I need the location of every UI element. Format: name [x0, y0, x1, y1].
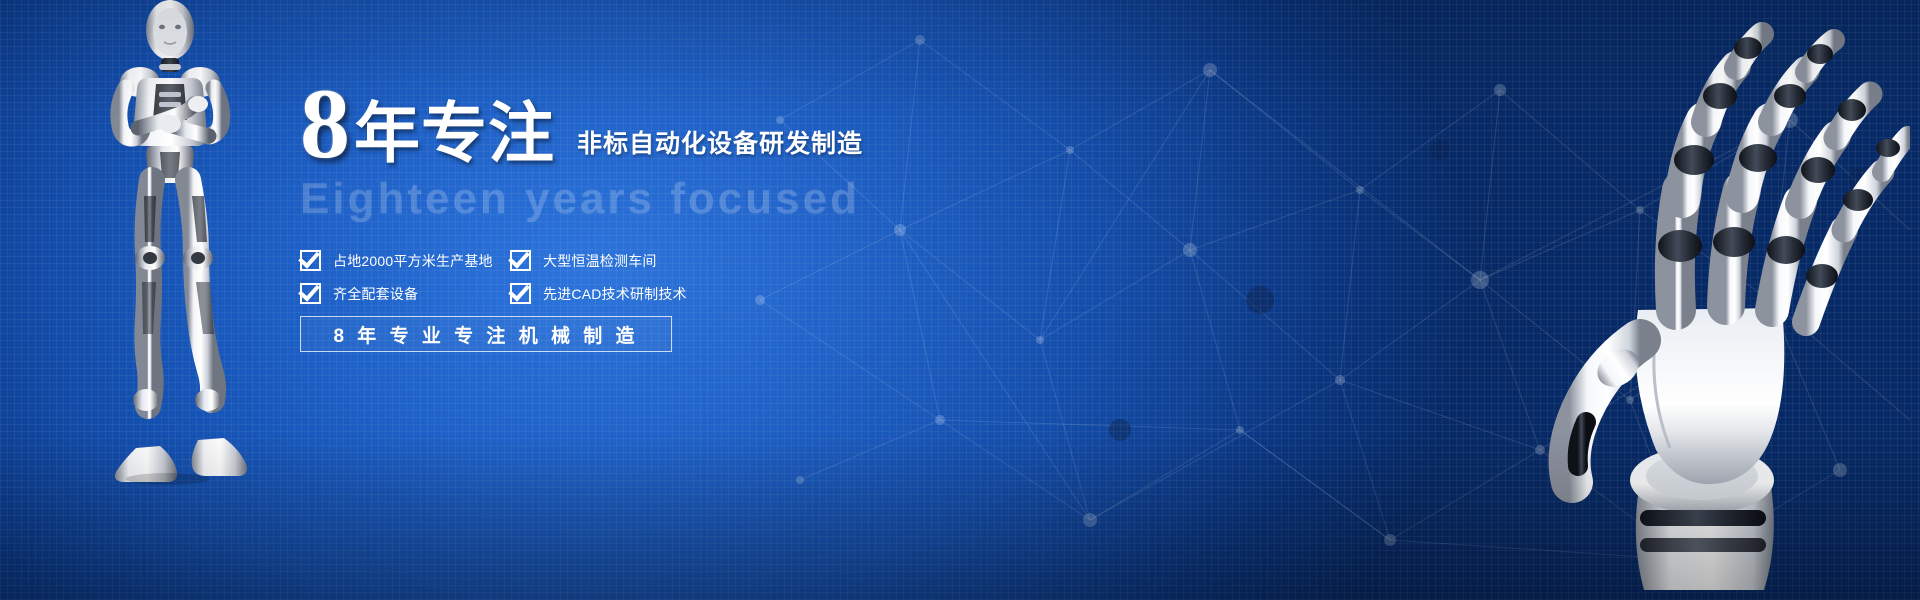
feature-item: 占地2000平方米生产基地	[300, 250, 510, 271]
headline-number: 8	[300, 78, 354, 170]
ghost-english-text: Eighteen years focused	[300, 174, 940, 224]
check-icon	[300, 283, 321, 304]
cta-bar-label: 8 年 专 业 专 注 机 械 制 造	[333, 321, 638, 348]
feature-list: 占地2000平方米生产基地 大型恒温检测车间 齐全配套设备 先进CAD技术研制技…	[300, 250, 690, 304]
feature-label: 大型恒温检测车间	[543, 251, 657, 271]
hero-banner: 8 年专注 非标自动化设备研发制造 Eighteen years focused…	[0, 0, 1920, 600]
feature-label: 齐全配套设备	[333, 284, 418, 304]
robotic-hand	[1490, 10, 1910, 600]
check-icon	[510, 283, 531, 304]
headline-row: 8 年专注 非标自动化设备研发制造	[300, 78, 940, 170]
feature-label: 占地2000平方米生产基地	[333, 251, 493, 271]
feature-item: 大型恒温检测车间	[510, 250, 690, 271]
feature-row: 齐全配套设备 先进CAD技术研制技术	[300, 283, 690, 304]
humanoid-robot	[60, 0, 280, 490]
feature-row: 占地2000平方米生产基地 大型恒温检测车间	[300, 250, 690, 271]
feature-item: 先进CAD技术研制技术	[510, 283, 690, 304]
headline-subtitle: 非标自动化设备研发制造	[555, 124, 863, 170]
banner-content: 8 年专注 非标自动化设备研发制造 Eighteen years focused…	[300, 78, 940, 352]
headline-chinese: 年专注	[354, 100, 555, 170]
check-icon	[300, 250, 321, 271]
feature-item: 齐全配套设备	[300, 283, 510, 304]
check-icon	[510, 250, 531, 271]
feature-label: 先进CAD技术研制技术	[543, 284, 687, 304]
cta-bar[interactable]: 8 年 专 业 专 注 机 械 制 造	[300, 316, 672, 352]
